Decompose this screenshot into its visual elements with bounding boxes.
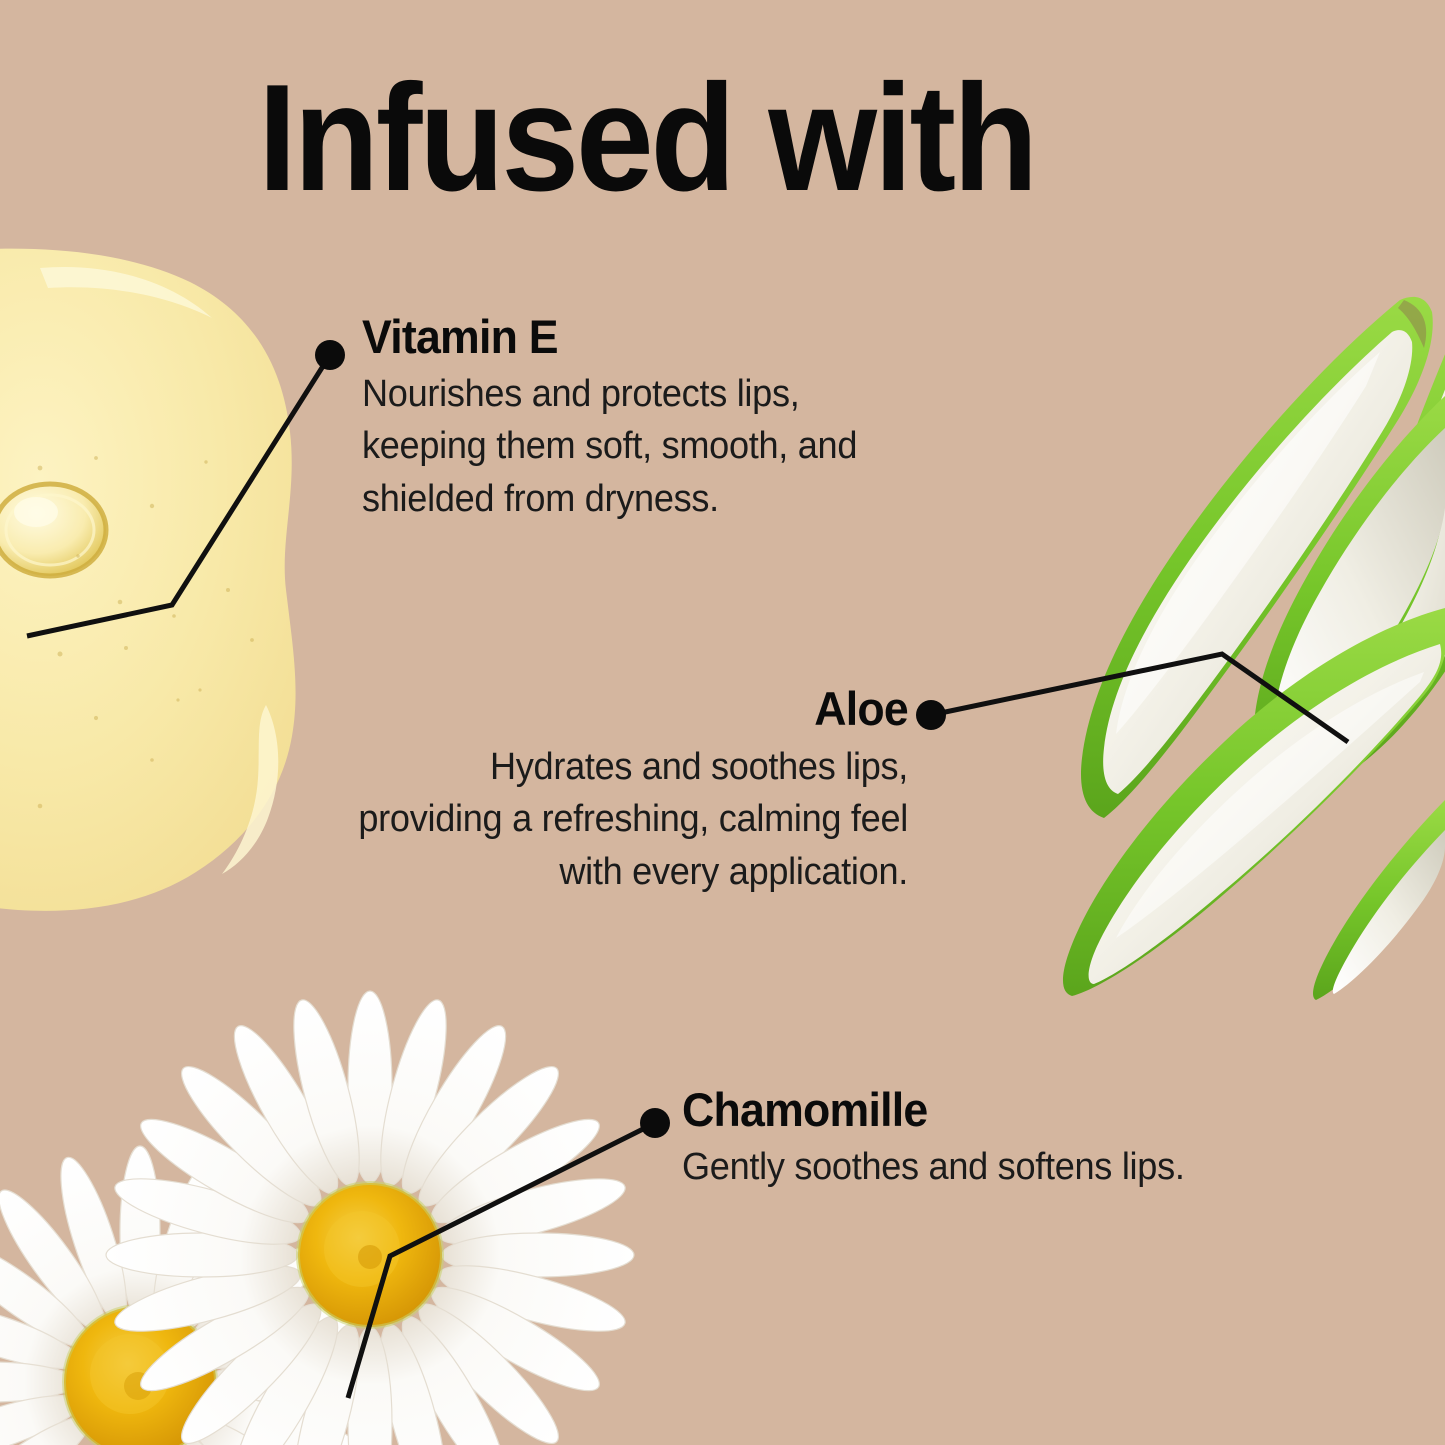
description-line: shielded from dryness. xyxy=(362,473,857,525)
marker-dot-vitamin-e xyxy=(315,340,345,370)
aloe-vera-leaves-group xyxy=(1063,297,1445,1000)
chamomile-flowers-group xyxy=(0,991,634,1445)
ingredient-name-aloe: Aloe xyxy=(281,684,908,735)
page-title: Infused with xyxy=(258,62,1035,214)
description-line: providing a refreshing, calming feel xyxy=(281,793,908,845)
infographic-canvas: Infused with Vitamin E Nourishes and pro… xyxy=(0,0,1445,1445)
oil-blob-sheen-top xyxy=(40,267,212,318)
description-line: Nourishes and protects lips, xyxy=(362,368,857,420)
callout-vitamin-e: Vitamin E Nourishes and protects lips, k… xyxy=(362,312,883,525)
description-line: Gently soothes and softens lips. xyxy=(682,1141,1185,1193)
callout-chamomille: Chamomille Gently soothes and softens li… xyxy=(682,1085,1211,1193)
aloe-leaf-diagonal-front xyxy=(1063,608,1445,996)
ingredient-description-vitamin-e: Nourishes and protects lips, keeping the… xyxy=(362,368,857,525)
connector-line-chamomille xyxy=(348,1123,655,1398)
ingredient-name-vitamin-e: Vitamin E xyxy=(362,312,857,363)
connector-line-vitamin-e xyxy=(27,355,330,636)
oil-blob-speckles xyxy=(38,456,254,808)
ingredient-description-aloe: Hydrates and soothes lips, providing a r… xyxy=(281,741,908,898)
aloe-leaf-right-upright xyxy=(1254,396,1445,782)
ingredient-description-chamomille: Gently soothes and softens lips. xyxy=(682,1141,1185,1193)
connector-line-aloe xyxy=(931,654,1348,742)
description-line: with every application. xyxy=(281,846,908,898)
marker-dot-chamomille xyxy=(640,1108,670,1138)
aloe-leaf-back-right xyxy=(1349,318,1445,768)
chamomile-disc-lower xyxy=(64,1306,216,1445)
callout-aloe: Aloe Hydrates and soothes lips, providin… xyxy=(248,684,908,898)
description-line: Hydrates and soothes lips, xyxy=(281,741,908,793)
chamomile-petals-main xyxy=(106,991,634,1445)
chamomile-flower-lower-left xyxy=(0,1146,376,1445)
chamomile-petals-lower xyxy=(0,1146,376,1445)
marker-dot-aloe xyxy=(916,700,946,730)
aloe-leaf-upper-left xyxy=(1081,297,1433,818)
oil-blob-bubble xyxy=(0,484,106,576)
aloe-leaf-bottom-right-tip xyxy=(1313,800,1445,1000)
chamomile-disc-main xyxy=(298,1183,442,1327)
description-line: keeping them soft, smooth, and xyxy=(362,420,857,472)
chamomile-flower-main xyxy=(106,991,634,1445)
ingredient-name-chamomille: Chamomille xyxy=(682,1085,1185,1136)
